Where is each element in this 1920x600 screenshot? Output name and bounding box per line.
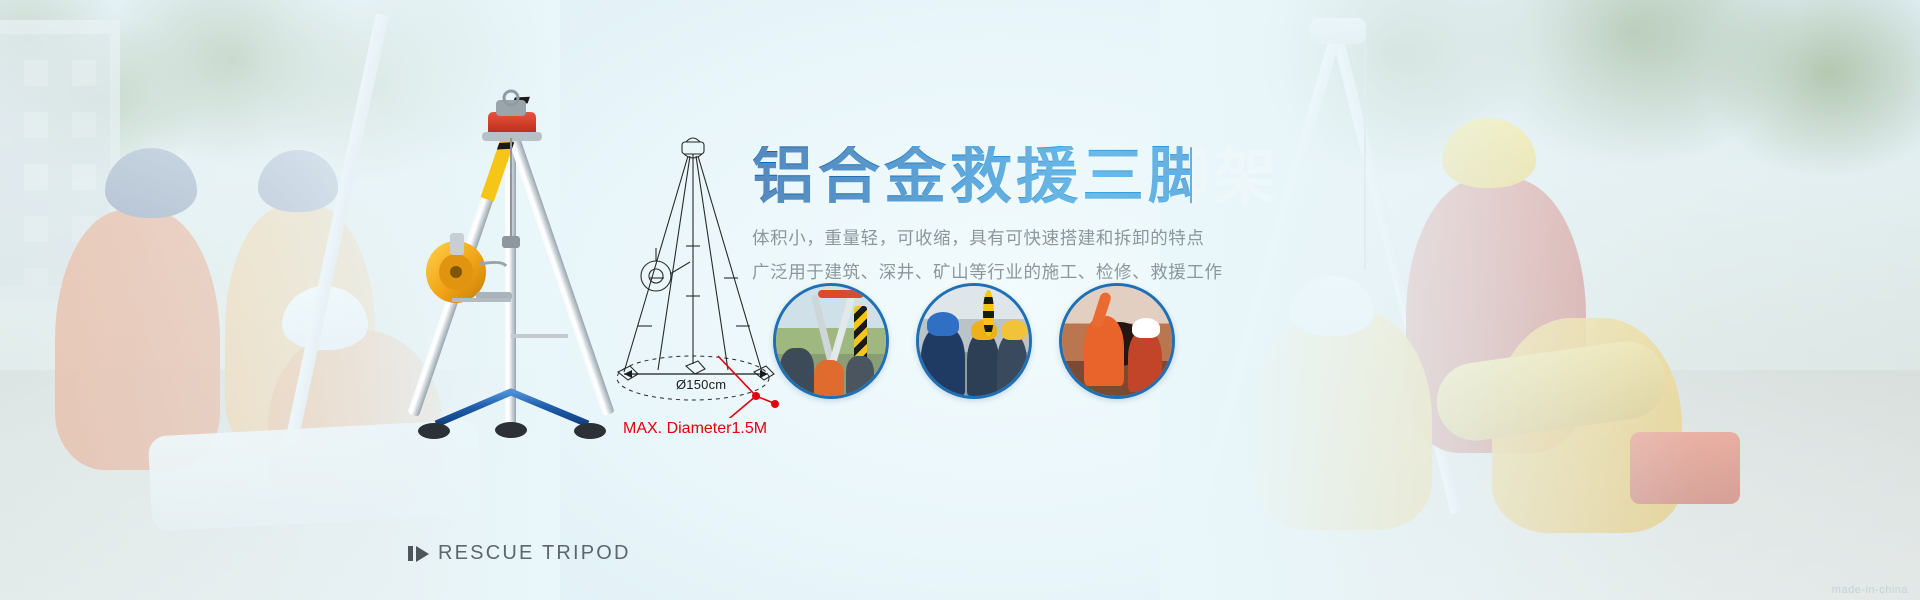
application-photo-gallery bbox=[773, 283, 1175, 399]
product-banner: RESCUE TRIPOD bbox=[0, 0, 1920, 600]
red-callout-line bbox=[718, 356, 779, 418]
worker-shape bbox=[967, 332, 999, 396]
headline-block: 铝合金救援三脚架 体积小，重量轻，可收缩，具有可快速搭建和拆卸的特点 广泛用于建… bbox=[752, 146, 1192, 284]
product-tripod-photo bbox=[392, 86, 632, 466]
helmet-icon bbox=[1132, 318, 1160, 338]
field-rescue-tripod-photo[interactable] bbox=[773, 283, 889, 399]
rescue-tripod-caption: RESCUE TRIPOD bbox=[408, 542, 631, 565]
crossbar-shape bbox=[818, 290, 864, 298]
subtitle-line-2: 广泛用于建筑、深井、矿山等行业的施工、检修、救援工作 bbox=[752, 259, 1162, 284]
page-title: 铝合金救援三脚架 bbox=[752, 146, 1192, 208]
worker-shape bbox=[846, 356, 874, 396]
play-triangle-icon bbox=[408, 546, 429, 562]
watermark: made-in-china bbox=[1832, 584, 1908, 596]
confined-space-rescue-photo[interactable] bbox=[1059, 283, 1175, 399]
worker-shape bbox=[921, 326, 965, 396]
worker-shape bbox=[780, 348, 814, 396]
right-photo-scene bbox=[1160, 0, 1920, 600]
right-rescue-operation-photo bbox=[1160, 0, 1920, 600]
worker-shape bbox=[997, 334, 1027, 396]
helmet-icon bbox=[1001, 320, 1027, 340]
hazard-pole-shape bbox=[983, 290, 994, 336]
max-diameter-note: MAX. Diameter1.5M bbox=[623, 420, 767, 438]
worker-shape bbox=[814, 360, 844, 396]
subtitle-line-1: 体积小，重量轻，可收缩，具有可快速搭建和拆卸的特点 bbox=[752, 225, 1162, 250]
right-photo-fade-overlay bbox=[1160, 0, 1920, 600]
tripod-head bbox=[482, 91, 542, 141]
worker-shape bbox=[1128, 330, 1162, 392]
helmet-icon bbox=[927, 312, 959, 336]
diameter-label: Ø150cm bbox=[676, 377, 726, 392]
worker-shape bbox=[1084, 316, 1124, 386]
well-inspection-photo[interactable] bbox=[916, 283, 1032, 399]
rescue-tripod-caption-text: RESCUE TRIPOD bbox=[438, 542, 631, 565]
